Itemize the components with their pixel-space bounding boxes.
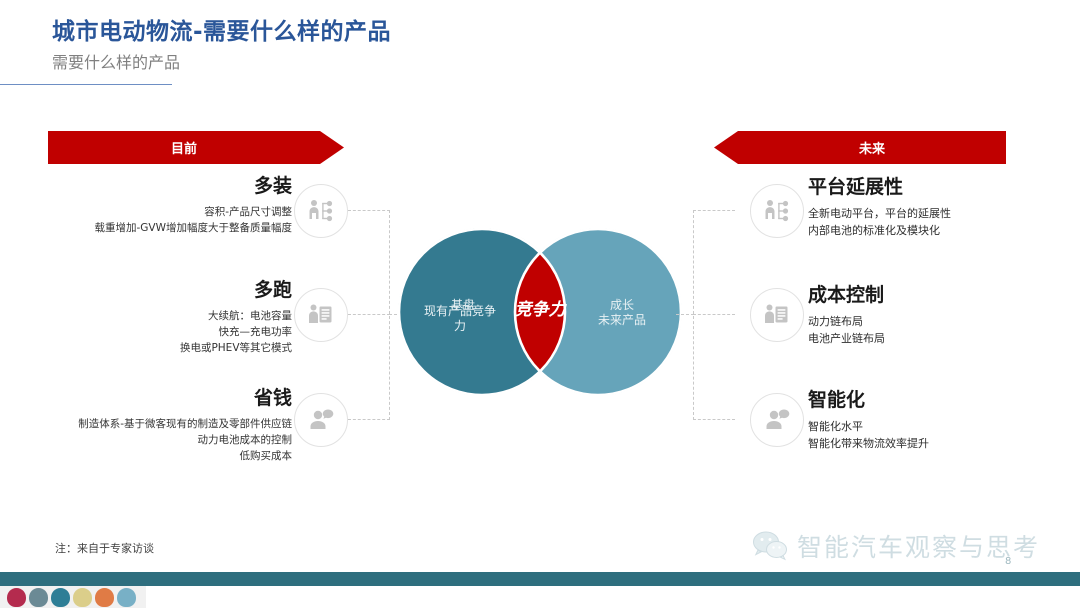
left-item-3-lines: 制造体系-基于微客现有的制造及零部件供应链 动力电池成本的控制 低购买成本 (0, 416, 292, 465)
left-item-2-heading: 多跑 (0, 279, 292, 302)
connector-left-2 (348, 314, 390, 315)
person-speech-icon (764, 408, 790, 432)
left-item-3-line-1: 制造体系-基于微客现有的制造及零部件供应链 (0, 416, 292, 432)
swatch-4 (73, 588, 92, 607)
right-item-1-lines: 全新电动平台，平台的延展性 内部电池的标准化及模块化 (808, 205, 1080, 239)
right-item-3: 智能化 智能化水平 智能化带来物流效率提升 (808, 389, 1080, 452)
left-item-3: 省钱 制造体系-基于微客现有的制造及零部件供应链 动力电池成本的控制 低购买成本 (0, 387, 292, 465)
watermark-text: 智能汽车观察与思考 (797, 528, 1040, 564)
left-item-1: 多装 容积-产品尺寸调整 载重增加-GVW增加幅度大于整备质量幅度 (0, 175, 292, 236)
right-icon-3 (750, 393, 804, 447)
title-underline (0, 84, 172, 85)
connector-right-center (676, 314, 694, 315)
connector-left-3 (348, 419, 390, 420)
person-network-icon (764, 199, 790, 223)
slide: 城市电动物流-需要什么样的产品 需要什么样的产品 目前 未来 多装 容积-产品尺… (0, 0, 1080, 608)
slide-header: 城市电动物流-需要什么样的产品 需要什么样的产品 (0, 0, 1080, 104)
person-speech-icon (308, 408, 334, 432)
swatch-2 (29, 588, 48, 607)
left-icon-1 (294, 184, 348, 238)
swatch-3 (51, 588, 70, 607)
right-item-3-heading: 智能化 (808, 389, 1080, 412)
left-item-2: 多跑 大续航：电池容量 快充—充电功率 换电或PHEV等其它模式 (0, 279, 292, 357)
right-item-3-line-1: 智能化水平 (808, 418, 1080, 435)
person-document-icon (764, 303, 790, 327)
wechat-icon (752, 531, 788, 561)
right-item-1: 平台延展性 全新电动平台，平台的延展性 内部电池的标准化及模块化 (808, 176, 1080, 239)
person-network-icon (308, 199, 334, 223)
left-item-3-heading: 省钱 (0, 387, 292, 410)
venn-intersection (514, 228, 566, 396)
banner-current: 目前 (48, 131, 344, 164)
right-item-2-heading: 成本控制 (808, 284, 1080, 307)
right-icon-2 (750, 288, 804, 342)
person-document-icon (308, 303, 334, 327)
left-item-1-heading: 多装 (0, 175, 292, 198)
page-subtitle: 需要什么样的产品 (52, 49, 180, 73)
venn-lens-shape (398, 228, 682, 396)
banner-future: 未来 (714, 131, 1006, 164)
connector-left-spine (389, 210, 390, 420)
left-item-2-line-3: 换电或PHEV等其它模式 (0, 340, 292, 356)
right-item-1-line-2: 内部电池的标准化及模块化 (808, 222, 1080, 239)
right-item-1-line-1: 全新电动平台，平台的延展性 (808, 205, 1080, 222)
left-item-2-line-1: 大续航：电池容量 (0, 308, 292, 324)
swatch-6 (117, 588, 136, 607)
left-item-1-line-1: 容积-产品尺寸调整 (0, 204, 292, 220)
connector-right-2 (693, 314, 735, 315)
banner-future-label: 未来 (859, 138, 885, 157)
page-title: 城市电动物流-需要什么样的产品 (52, 12, 391, 46)
swatch-1 (7, 588, 26, 607)
right-item-2-lines: 动力链布局 电池产业链布局 (808, 313, 1080, 347)
right-icon-1 (750, 184, 804, 238)
watermark: 智能汽车观察与思考 (752, 528, 1040, 564)
right-item-1-heading: 平台延展性 (808, 176, 1080, 199)
footnote: 注：来自于专家访谈 (55, 540, 154, 556)
page-number: 8 (1005, 556, 1011, 567)
connector-right-3 (693, 419, 735, 420)
bottom-bar (0, 572, 1080, 586)
right-item-3-lines: 智能化水平 智能化带来物流效率提升 (808, 418, 1080, 452)
connector-right-1 (693, 210, 735, 211)
swatch-5 (95, 588, 114, 607)
left-item-3-line-2: 动力电池成本的控制 (0, 432, 292, 448)
right-item-2-line-1: 动力链布局 (808, 313, 1080, 330)
banner-current-label: 目前 (171, 138, 197, 157)
right-item-2-line-2: 电池产业链布局 (808, 330, 1080, 347)
venn-diagram: 基盘 现有产品竞争力 成长 未来产品 竞争力 (398, 228, 682, 396)
left-item-1-lines: 容积-产品尺寸调整 载重增加-GVW增加幅度大于整备质量幅度 (0, 204, 292, 237)
left-item-3-line-3: 低购买成本 (0, 448, 292, 464)
left-item-1-line-2: 载重增加-GVW增加幅度大于整备质量幅度 (0, 220, 292, 236)
left-icon-3 (294, 393, 348, 447)
color-swatches (0, 586, 146, 608)
left-item-2-lines: 大续航：电池容量 快充—充电功率 换电或PHEV等其它模式 (0, 308, 292, 357)
right-item-2: 成本控制 动力链布局 电池产业链布局 (808, 284, 1080, 347)
connector-right-spine (693, 210, 694, 420)
right-item-3-line-2: 智能化带来物流效率提升 (808, 435, 1080, 452)
left-icon-2 (294, 288, 348, 342)
connector-left-1 (348, 210, 390, 211)
left-item-2-line-2: 快充—充电功率 (0, 324, 292, 340)
